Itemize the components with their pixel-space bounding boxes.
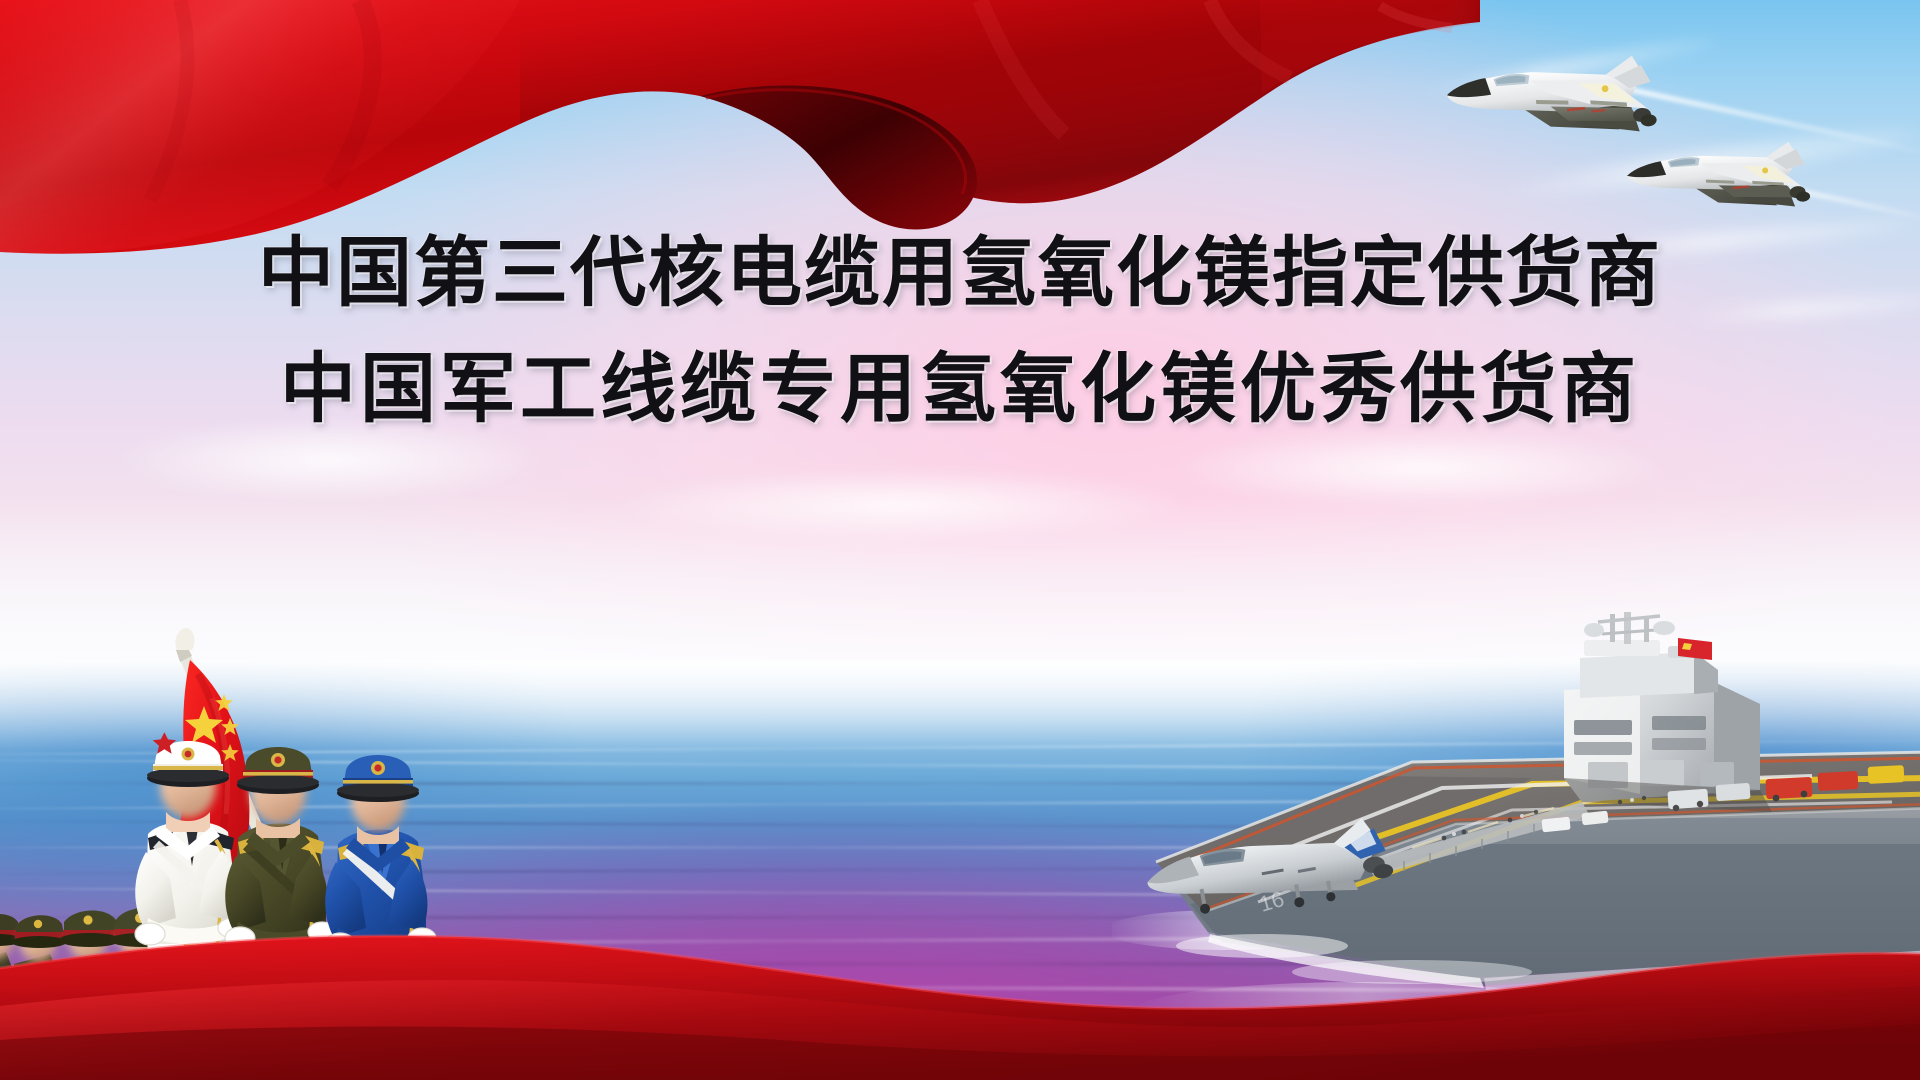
poster-title-block: 中国第三代核电缆用氢氧化镁指定供货商 中国军工线缆专用氢氧化镁优秀供货商 xyxy=(0,236,1920,428)
red-flag-drape xyxy=(0,0,1480,260)
title-line-1: 中国第三代核电缆用氢氧化镁指定供货商 xyxy=(0,236,1920,312)
title-line-2: 中国军工线缆专用氢氧化镁优秀供货商 xyxy=(0,352,1920,428)
red-ribbon-bottom xyxy=(0,910,1920,1080)
fighter-jet-wingman xyxy=(1617,118,1827,243)
poster-canvas: 中国第三代核电缆用氢氧化镁指定供货商 中国军工线缆专用氢氧化镁优秀供货商 xyxy=(0,0,1920,1080)
cloud-wisp xyxy=(1180,430,1660,506)
cloud-wisp xyxy=(120,420,540,500)
